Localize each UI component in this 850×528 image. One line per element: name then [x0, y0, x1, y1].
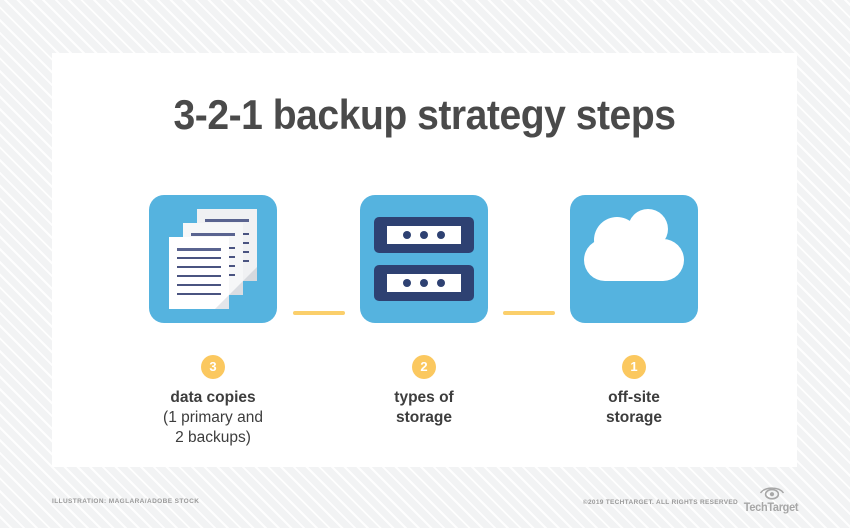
- step-label-sub-1b: 2 backups): [123, 428, 303, 448]
- step-label-main-2a: types of: [334, 388, 514, 408]
- step-badge-2: 2: [412, 355, 436, 379]
- techtarget-wordmark: TechTarget: [743, 502, 798, 514]
- step-badge-1: 1: [622, 355, 646, 379]
- server-strip-top: [387, 226, 461, 244]
- page-title: 3-2-1 backup strategy steps: [78, 91, 771, 139]
- server-unit-bottom: [374, 265, 474, 301]
- step-label-main-1: data copies: [123, 388, 303, 408]
- server-dot: [420, 231, 428, 239]
- step-types-of-storage: 2 types of storage: [334, 195, 514, 428]
- copyright-notice: ©2019 TECHTARGET. ALL RIGHTS RESERVED: [583, 499, 738, 506]
- server-dot: [403, 279, 411, 287]
- documents-icon: [169, 209, 259, 309]
- server-dot: [437, 279, 445, 287]
- server-unit-top: [374, 217, 474, 253]
- server-strip-bottom: [387, 274, 461, 292]
- step-label-main-3a: off-site: [544, 388, 724, 408]
- tile-server: [360, 195, 488, 323]
- cloud-icon: [584, 239, 684, 281]
- tile-documents: [149, 195, 277, 323]
- step-label-sub-1a: (1 primary and: [123, 408, 303, 428]
- infographic-card: 3-2-1 backup strategy steps: [52, 53, 797, 467]
- illustration-credit: ILLUSTRATION: MAGLARA/ADOBE STOCK: [52, 498, 199, 505]
- tile-cloud: [570, 195, 698, 323]
- step-off-site-storage: 1 off-site storage: [544, 195, 724, 428]
- server-dot: [403, 231, 411, 239]
- step-label-main-2b: storage: [334, 408, 514, 428]
- server-dot: [420, 279, 428, 287]
- server-dot: [437, 231, 445, 239]
- step-data-copies: 3 data copies (1 primary and 2 backups): [123, 195, 303, 448]
- eye-icon: [759, 484, 785, 500]
- techtarget-logo: TechTarget: [742, 484, 800, 514]
- step-label-main-3b: storage: [544, 408, 724, 428]
- step-badge-3: 3: [201, 355, 225, 379]
- steps-row: 3 data copies (1 primary and 2 backups): [52, 195, 797, 455]
- document-page-front: [169, 237, 229, 309]
